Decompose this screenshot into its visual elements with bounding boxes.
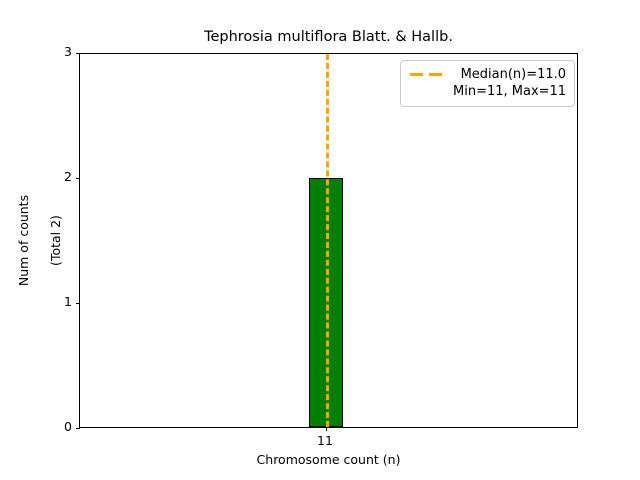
x-tick-11 xyxy=(326,427,327,431)
y-tick-label-2: 2 xyxy=(56,171,72,184)
legend-label-minmax: Min=11, Max=11 xyxy=(453,83,566,100)
legend-dash-segment-1 xyxy=(410,73,423,76)
y-axis-label-line2: (Total 2) xyxy=(48,53,64,428)
legend-handle-median-line xyxy=(409,66,445,83)
median-line-overlay xyxy=(326,54,329,427)
y-tick-3 xyxy=(76,53,80,54)
legend[interactable]: Median(n)=11.0 Min=11, Max=11 xyxy=(400,60,575,107)
y-axis-label: Num of counts (Total 2) xyxy=(0,53,34,428)
matplotlib-figure: Tephrosia multiflora Blatt. & Hallb. Num… xyxy=(0,0,640,480)
y-tick-2 xyxy=(76,178,80,179)
legend-label-median: Median(n)=11.0 xyxy=(461,66,567,83)
y-tick-label-3: 3 xyxy=(56,46,72,59)
legend-text: Median(n)=11.0 Min=11, Max=11 xyxy=(453,66,566,100)
y-axis-label-line1: Num of counts xyxy=(16,53,32,428)
plot-clip xyxy=(80,54,577,427)
chart-title: Tephrosia multiflora Blatt. & Hallb. xyxy=(79,28,578,46)
x-axis-label: Chromosome count (n) xyxy=(79,453,578,467)
x-tick-label-11: 11 xyxy=(317,435,333,448)
y-tick-1 xyxy=(76,303,80,304)
y-tick-0 xyxy=(76,428,80,429)
plot-area xyxy=(79,53,578,428)
y-tick-label-1: 1 xyxy=(56,296,72,309)
y-tick-label-0: 0 xyxy=(56,421,72,434)
legend-dash-segment-2 xyxy=(429,73,442,76)
